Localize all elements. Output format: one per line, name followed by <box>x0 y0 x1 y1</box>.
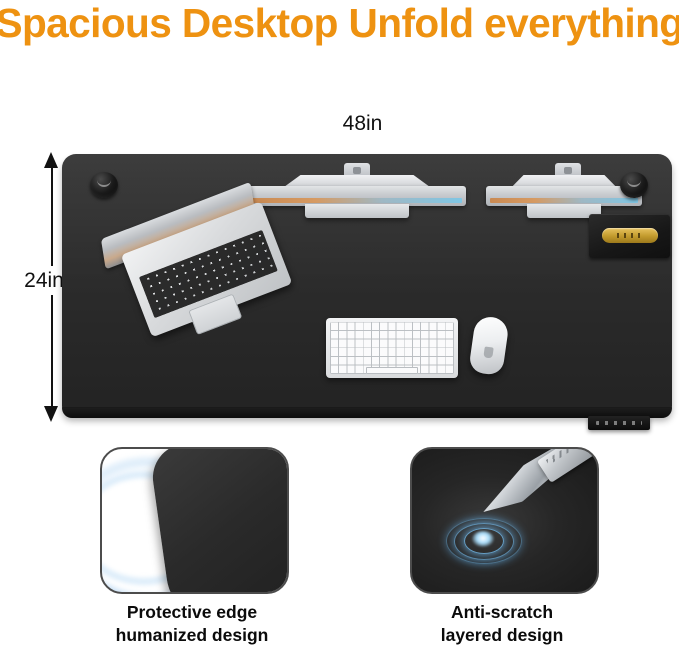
feature-anti-scratch <box>410 447 599 594</box>
caption-protective-edge: Protective edge humanized design <box>62 601 322 647</box>
caption-anti-scratch-line2: layered design <box>372 624 632 647</box>
feature-protective-edge <box>100 447 289 594</box>
monitor-left <box>248 172 466 222</box>
keyboard-spacebar <box>366 367 418 374</box>
width-dimension-label: 48in <box>50 112 675 136</box>
control-keypad-buttons[interactable] <box>596 421 642 425</box>
monitor-left-foot <box>305 204 410 218</box>
control-keypad[interactable] <box>588 416 650 430</box>
monitor-right-panel <box>486 186 642 206</box>
mouse <box>468 315 510 376</box>
grommet-left-icon <box>90 172 118 198</box>
desk-surface <box>62 154 672 416</box>
desk-front-edge <box>62 408 672 418</box>
desk-corner-closeup <box>149 447 289 594</box>
monitor-right-strip <box>490 198 638 203</box>
monitor-left-panel <box>248 186 466 206</box>
caption-anti-scratch-line1: Anti-scratch <box>372 601 632 624</box>
caption-protective-edge-line1: Protective edge <box>62 601 322 624</box>
accessory-box <box>589 214 670 258</box>
utility-knife-icon <box>482 461 594 557</box>
accessory-box-pad <box>602 228 658 243</box>
arrow-up-icon <box>44 152 58 168</box>
caption-anti-scratch: Anti-scratch layered design <box>372 601 632 647</box>
page-title: Spacious Desktop Unfold everything <box>3 0 675 48</box>
keyboard <box>326 318 458 378</box>
caption-protective-edge-line2: humanized design <box>62 624 322 647</box>
product-infographic: Spacious Desktop Unfold everything 48in … <box>0 0 679 652</box>
grommet-right-icon <box>620 172 648 198</box>
arrow-down-icon <box>44 406 58 422</box>
monitor-left-strip <box>252 198 462 203</box>
width-dimension: 48in <box>50 112 675 146</box>
